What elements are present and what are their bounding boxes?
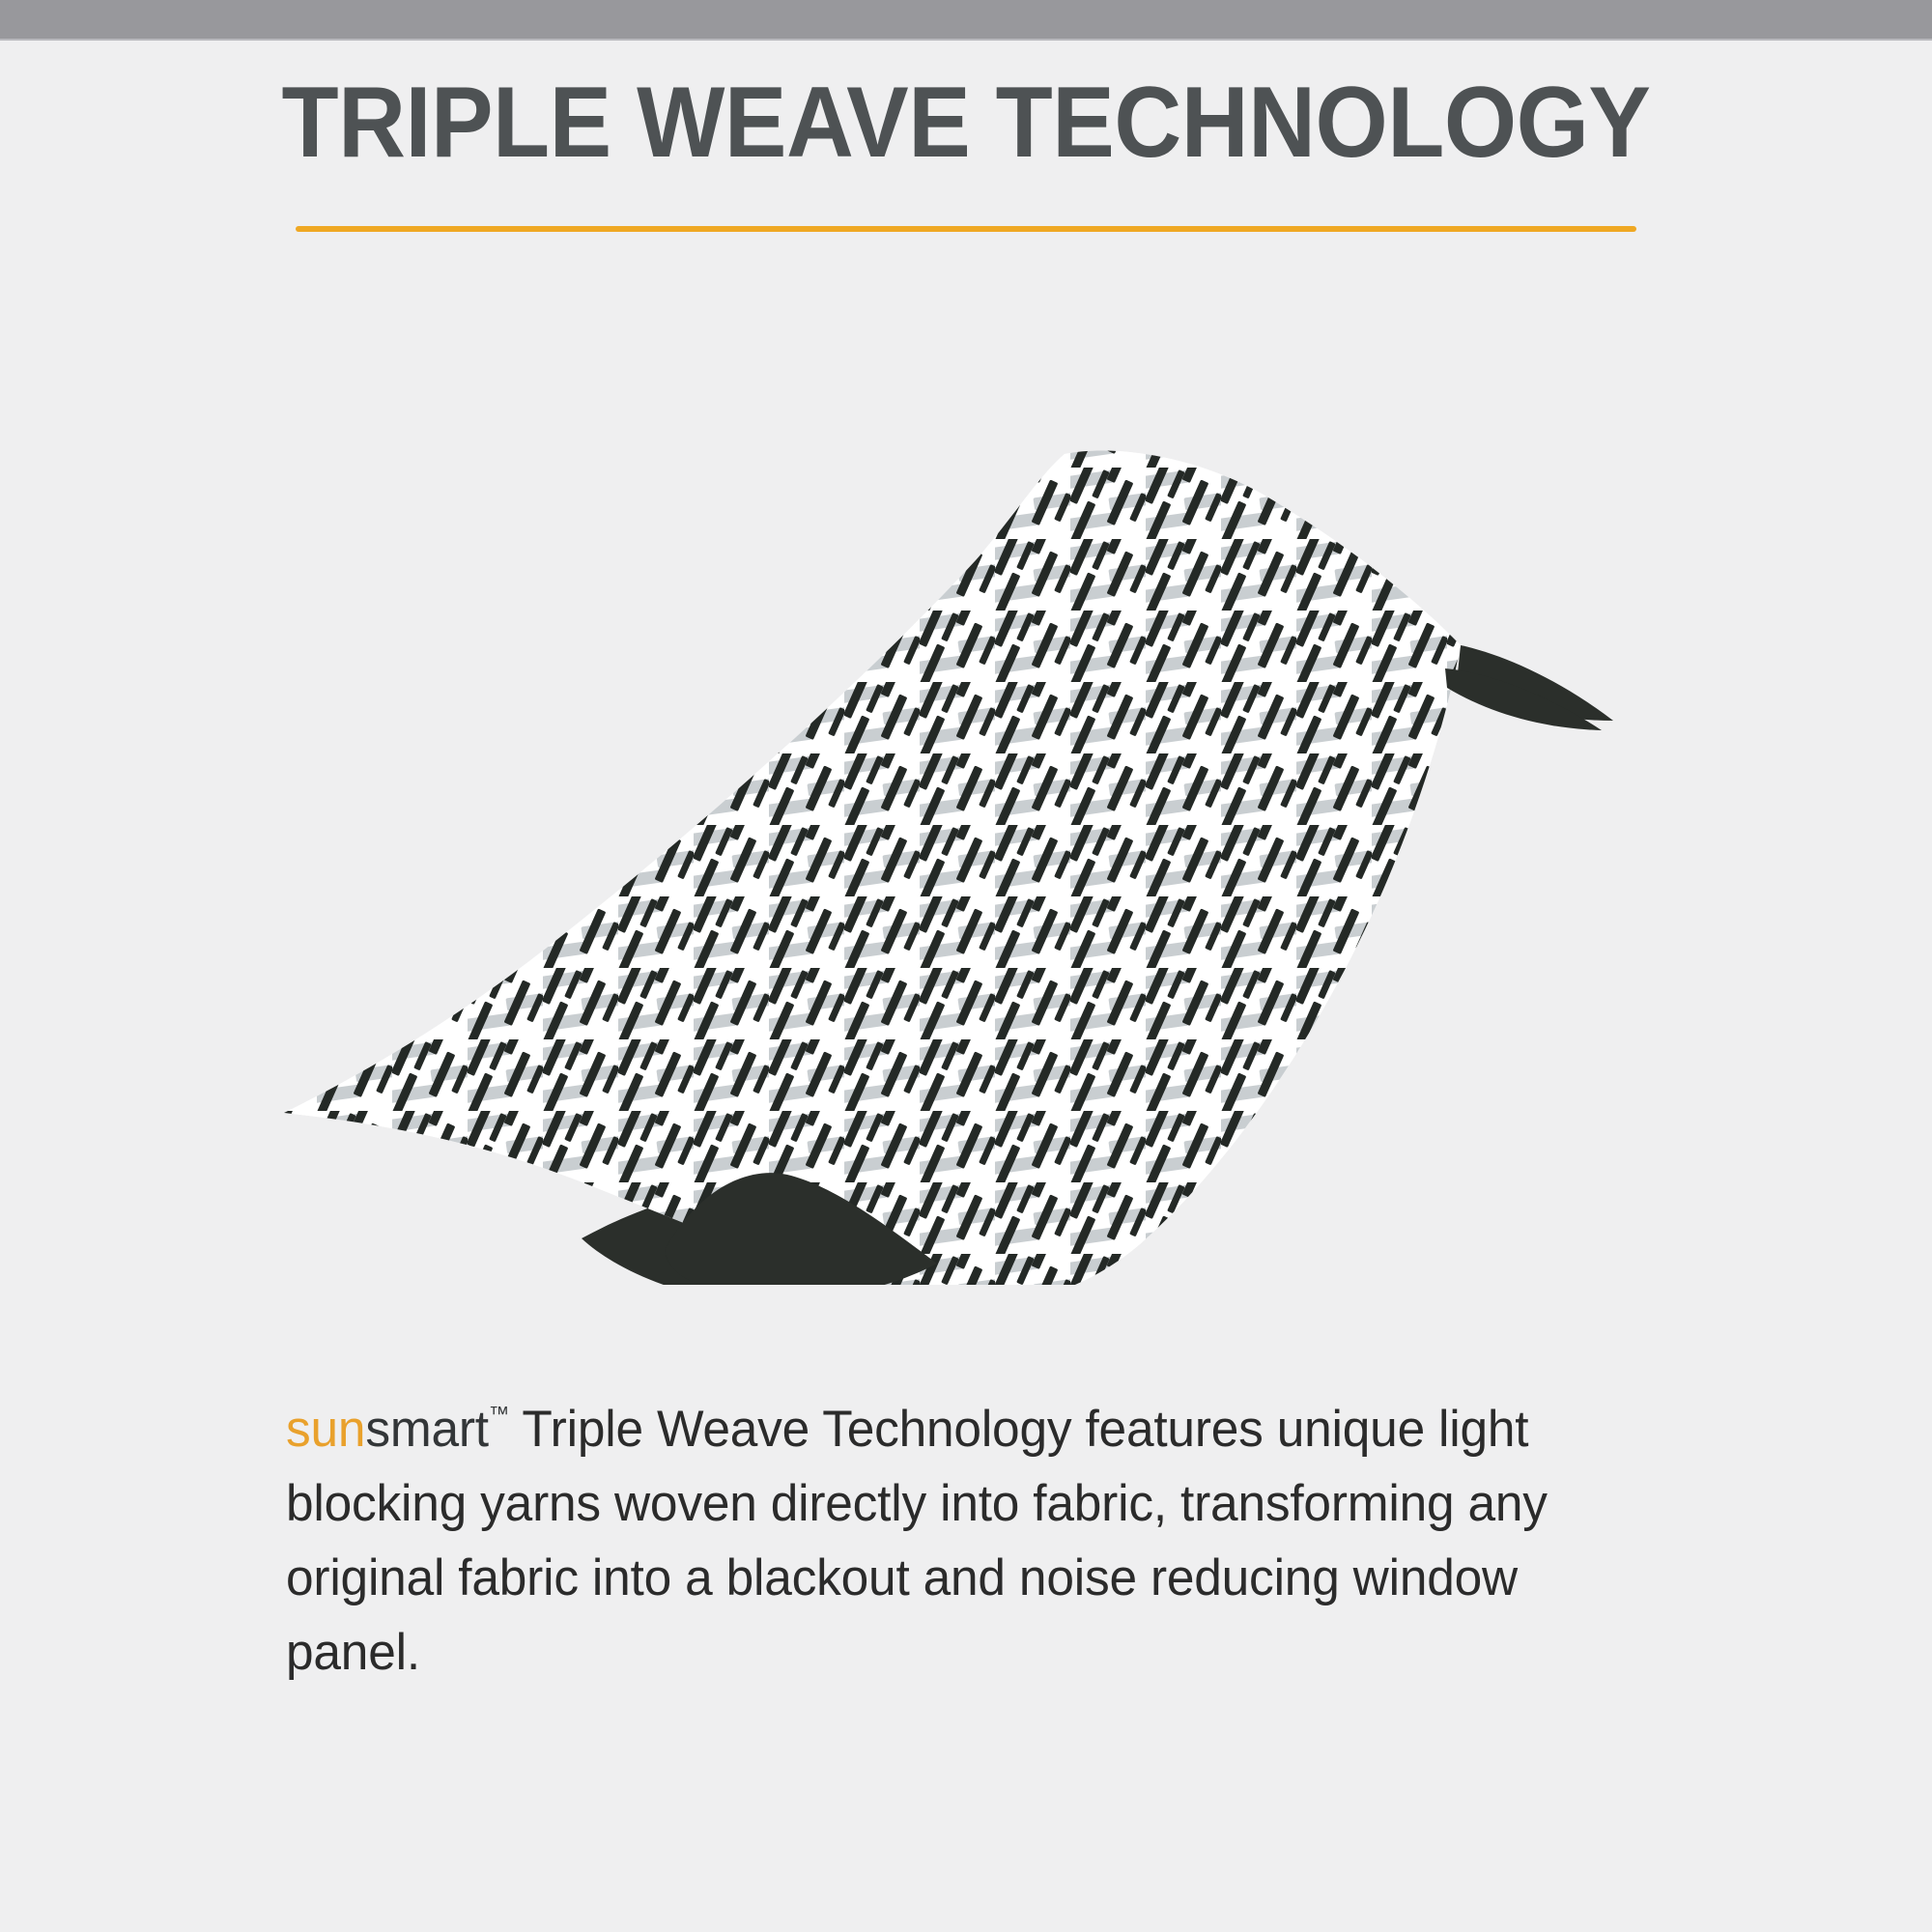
page-title: TRIPLE WEAVE TECHNOLOGY bbox=[68, 70, 1864, 176]
brand-smart-text: smart bbox=[365, 1401, 489, 1458]
trademark-symbol: ™ bbox=[489, 1402, 509, 1426]
fabric-illustration bbox=[241, 396, 1739, 1285]
fabric-weave-surface bbox=[241, 396, 1739, 1285]
description-paragraph: sunsmart™ Triple Weave Technology featur… bbox=[286, 1377, 1616, 1690]
brand-sun-text: sun bbox=[286, 1401, 365, 1458]
title-divider-wrap bbox=[0, 226, 1932, 232]
brand-lockup: sunsmart™ bbox=[286, 1401, 509, 1458]
window-chrome-bar bbox=[0, 0, 1932, 41]
product-feature-panel: TRIPLE WEAVE TECHNOLOGY bbox=[0, 0, 1932, 1932]
header: TRIPLE WEAVE TECHNOLOGY bbox=[0, 70, 1932, 176]
title-divider bbox=[296, 226, 1636, 232]
